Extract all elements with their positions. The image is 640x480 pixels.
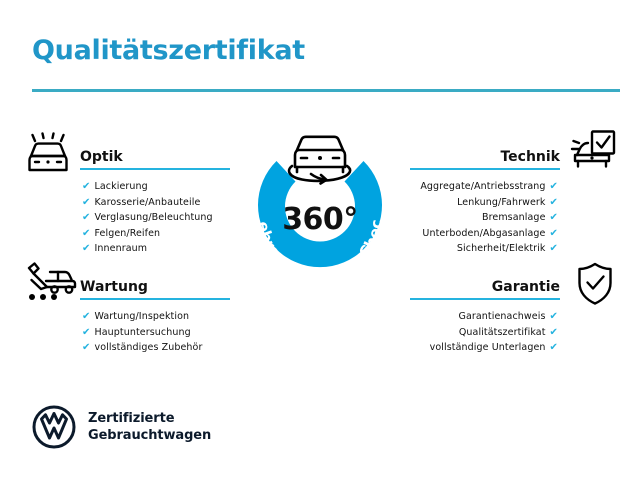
list-item: ✔Verglasung/Beleuchtung	[82, 210, 230, 226]
list-item-label: Qualitätszertifikat	[459, 327, 546, 338]
check-icon: ✔	[82, 327, 90, 338]
section-garantie-header: Garantie	[410, 270, 560, 300]
list-item-label: Felgen/Reifen	[94, 228, 160, 239]
check-icon: ✔	[550, 342, 558, 353]
list-item: ✔Karosserie/Anbauteile	[82, 195, 230, 211]
badge-360-gebrauchtwagen-check: Gebrauchtwagen-Check 360°	[228, 118, 412, 302]
list-item: Qualitätszertifikat✔	[410, 325, 558, 341]
car-checkbox-icon	[566, 130, 618, 178]
footer-brand-text: Zertifizierte Gebrauchtwagen	[88, 410, 211, 444]
section-optik-title: Optik	[80, 149, 123, 165]
list-item: ✔vollständiges Zubehör	[82, 340, 230, 356]
section-garantie: Garantie Garantienachweis✔ Qualitätszert…	[410, 270, 560, 356]
list-item-label: Unterboden/Abgasanlage	[422, 228, 545, 239]
section-optik: Optik ✔Lackierung ✔Karosserie/Anbauteile…	[80, 140, 230, 257]
list-item-label: Innenraum	[94, 243, 147, 254]
footer-brand-line2: Gebrauchtwagen	[88, 427, 211, 444]
list-item-label: vollständige Unterlagen	[430, 342, 546, 353]
certificate-page: Qualitätszertifikat Optik ✔Lackierung ✔K…	[0, 0, 640, 480]
list-item-label: Hauptuntersuchung	[94, 327, 190, 338]
list-item-label: Sicherheit/Elektrik	[457, 243, 546, 254]
check-icon: ✔	[550, 197, 558, 208]
car-service-pen-icon	[20, 262, 78, 312]
check-icon: ✔	[82, 243, 90, 254]
page-title: Qualitätszertifikat	[32, 35, 305, 66]
check-icon: ✔	[82, 311, 90, 322]
list-item: vollständige Unterlagen✔	[410, 340, 558, 356]
footer-brand-line1: Zertifizierte	[88, 410, 211, 427]
check-icon: ✔	[82, 228, 90, 239]
section-wartung-divider	[80, 298, 230, 300]
list-item-label: vollständiges Zubehör	[94, 342, 202, 353]
section-garantie-divider	[410, 298, 560, 300]
list-item: Lenkung/Fahrwerk✔	[410, 195, 558, 211]
section-technik-items: Aggregate/Antriebsstrang✔ Lenkung/Fahrwe…	[410, 179, 560, 257]
list-item: Unterboden/Abgasanlage✔	[410, 226, 558, 242]
list-item: ✔Felgen/Reifen	[82, 226, 230, 242]
list-item: Sicherheit/Elektrik✔	[410, 241, 558, 257]
section-garantie-title: Garantie	[492, 279, 560, 295]
list-item-label: Verglasung/Beleuchtung	[94, 212, 212, 223]
list-item-label: Karosserie/Anbauteile	[94, 197, 200, 208]
section-technik: Technik Aggregate/Antriebsstrang✔ Lenkun…	[410, 140, 560, 257]
check-icon: ✔	[82, 181, 90, 192]
check-icon: ✔	[82, 212, 90, 223]
check-icon: ✔	[550, 243, 558, 254]
footer-brand: Zertifizierte Gebrauchtwagen	[32, 405, 211, 449]
list-item: ✔Innenraum	[82, 241, 230, 257]
header-divider	[32, 89, 620, 92]
list-item: ✔Lackierung	[82, 179, 230, 195]
check-icon: ✔	[82, 342, 90, 353]
list-item: Garantienachweis✔	[410, 309, 558, 325]
section-optik-divider	[80, 168, 230, 170]
list-item-label: Wartung/Inspektion	[94, 311, 189, 322]
check-icon: ✔	[550, 181, 558, 192]
badge-center-label: 360°	[228, 118, 412, 302]
section-garantie-items: Garantienachweis✔ Qualitätszertifikat✔ v…	[410, 309, 560, 356]
section-wartung-title: Wartung	[80, 279, 148, 295]
check-icon: ✔	[550, 212, 558, 223]
section-wartung-items: ✔Wartung/Inspektion ✔Hauptuntersuchung ✔…	[80, 309, 230, 356]
section-technik-title: Technik	[500, 149, 560, 165]
vw-logo	[32, 405, 76, 449]
shield-check-icon	[572, 261, 618, 311]
section-wartung: Wartung ✔Wartung/Inspektion ✔Hauptunters…	[80, 270, 230, 356]
section-technik-header: Technik	[410, 140, 560, 170]
list-item: Aggregate/Antriebsstrang✔	[410, 179, 558, 195]
list-item-label: Lackierung	[94, 181, 147, 192]
list-item-label: Lenkung/Fahrwerk	[457, 197, 545, 208]
section-optik-items: ✔Lackierung ✔Karosserie/Anbauteile ✔Verg…	[80, 179, 230, 257]
list-item-label: Aggregate/Antriebsstrang	[420, 181, 545, 192]
check-icon: ✔	[82, 197, 90, 208]
check-icon: ✔	[550, 311, 558, 322]
car-shine-icon	[22, 132, 78, 182]
section-wartung-header: Wartung	[80, 270, 230, 300]
check-icon: ✔	[550, 327, 558, 338]
section-technik-divider	[410, 168, 560, 170]
list-item: ✔Wartung/Inspektion	[82, 309, 230, 325]
list-item-label: Bremsanlage	[482, 212, 546, 223]
list-item-label: Garantienachweis	[458, 311, 545, 322]
list-item: Bremsanlage✔	[410, 210, 558, 226]
list-item: ✔Hauptuntersuchung	[82, 325, 230, 341]
section-optik-header: Optik	[80, 140, 230, 170]
check-icon: ✔	[550, 228, 558, 239]
